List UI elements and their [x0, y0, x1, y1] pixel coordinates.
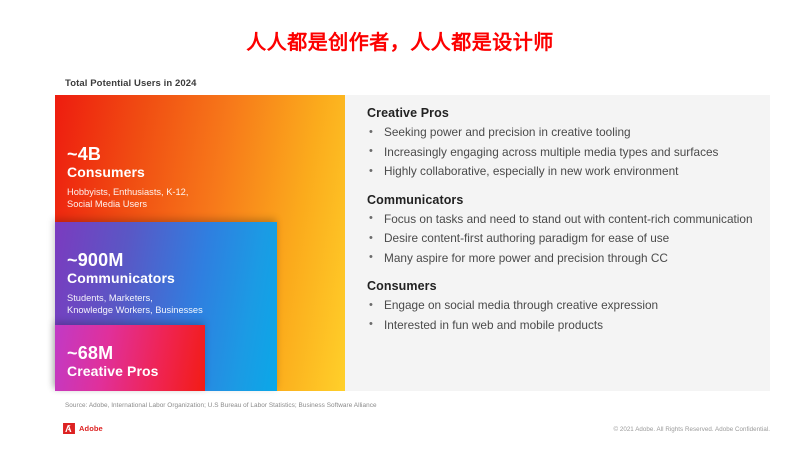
chart-bar-communicators-desc-line2: Knowledge Workers, Businesses: [67, 305, 203, 317]
list-item: Interested in fun web and mobile product…: [367, 316, 762, 336]
slide-body: Total Potential Users in 2024 ~4B Consum…: [55, 70, 770, 442]
chart-bar-communicators-desc-line1: Students, Marketers,: [67, 293, 203, 305]
page-title: 人人都是创作者，人人都是设计师: [0, 26, 800, 55]
chart-bar-consumers-desc-line1: Hobbyists, Enthusiasts, K-12,: [67, 187, 188, 199]
chart-header-label: Total Potential Users in 2024: [65, 78, 197, 89]
list-item: Desire content-first authoring paradigm …: [367, 229, 762, 249]
detail-group-communicators: Communicators Focus on tasks and need to…: [367, 193, 762, 269]
copyright-text: © 2021 Adobe. All Rights Reserved. Adobe…: [613, 426, 770, 433]
detail-group-creative-pros-bullets: Seeking power and precision in creative …: [367, 123, 762, 182]
list-item: Increasingly engaging across multiple me…: [367, 143, 762, 163]
detail-group-consumers-bullets: Engage on social media through creative …: [367, 296, 762, 335]
detail-group-creative-pros: Creative Pros Seeking power and precisio…: [367, 106, 762, 182]
chart-bar-creative-pros: ~68M Creative Pros: [55, 325, 205, 391]
chart-bar-consumers-label: ~4B Consumers Hobbyists, Enthusiasts, K-…: [67, 144, 188, 210]
list-item: Highly collaborative, especially in new …: [367, 162, 762, 182]
list-item: Seeking power and precision in creative …: [367, 123, 762, 143]
list-item: Many aspire for more power and precision…: [367, 249, 762, 269]
chart-bar-consumers-name: Consumers: [67, 164, 188, 181]
adobe-wordmark: Adobe: [79, 424, 103, 433]
chart-bar-creative-pros-label: ~68M Creative Pros: [67, 343, 159, 380]
detail-group-communicators-bullets: Focus on tasks and need to stand out wit…: [367, 210, 762, 269]
chart-bar-creative-pros-name: Creative Pros: [67, 363, 159, 380]
detail-group-creative-pros-title: Creative Pros: [367, 106, 762, 120]
list-item: Focus on tasks and need to stand out wit…: [367, 210, 762, 230]
chart-bar-consumers-value: ~4B: [67, 144, 188, 164]
detail-group-consumers-title: Consumers: [367, 279, 762, 293]
chart-bar-creative-pros-value: ~68M: [67, 343, 159, 363]
user-pyramid-chart: ~4B Consumers Hobbyists, Enthusiasts, K-…: [55, 95, 345, 391]
adobe-a-icon: [63, 423, 75, 434]
slide-footer: Adobe © 2021 Adobe. All Rights Reserved.…: [55, 422, 770, 442]
chart-bar-communicators-desc: Students, Marketers, Knowledge Workers, …: [67, 293, 203, 316]
list-item: Engage on social media through creative …: [367, 296, 762, 316]
chart-bar-consumers-desc: Hobbyists, Enthusiasts, K-12, Social Med…: [67, 187, 188, 210]
chart-bar-communicators-name: Communicators: [67, 270, 203, 287]
detail-group-consumers: Consumers Engage on social media through…: [367, 279, 762, 335]
audience-detail-panel: Creative Pros Seeking power and precisio…: [345, 95, 770, 391]
chart-bar-consumers-desc-line2: Social Media Users: [67, 199, 188, 211]
adobe-logo: Adobe: [63, 423, 103, 434]
detail-group-communicators-title: Communicators: [367, 193, 762, 207]
chart-bar-communicators-value: ~900M: [67, 250, 203, 270]
chart-bar-communicators-label: ~900M Communicators Students, Marketers,…: [67, 250, 203, 316]
source-note: Source: Adobe, International Labor Organ…: [65, 402, 377, 409]
